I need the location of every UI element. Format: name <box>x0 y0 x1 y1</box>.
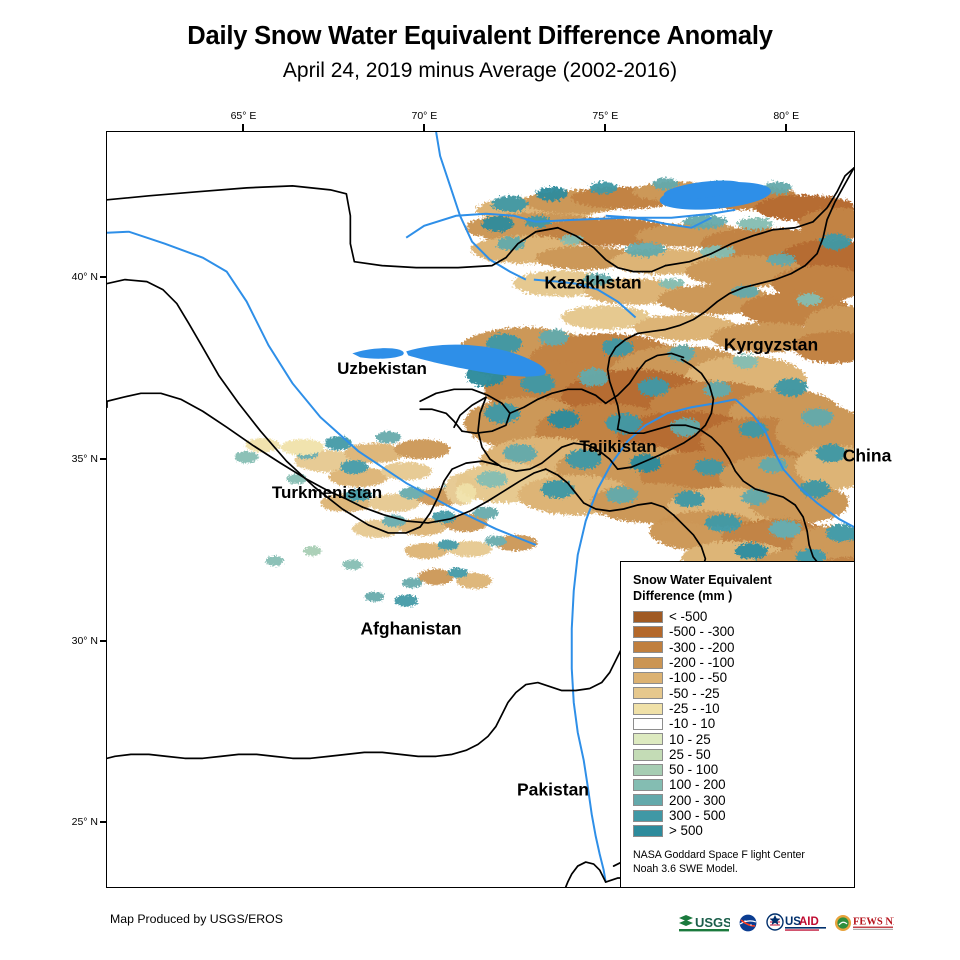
page-subtitle: April 24, 2019 minus Average (2002-2016) <box>0 59 960 82</box>
legend-label: -300 - -200 <box>669 641 735 654</box>
lat-tick-mark-3 <box>100 821 107 823</box>
legend-swatch <box>633 794 663 806</box>
legend-row: -100 - -50 <box>633 670 844 685</box>
map-legend[interactable]: Snow Water Equivalent Difference (mm ) <… <box>620 561 855 888</box>
legend-source-line1: NASA Goddard Space F light Center <box>633 848 844 863</box>
legend-label: 200 - 300 <box>669 794 726 807</box>
lat-tick-label-2: 30° N <box>62 635 98 647</box>
legend-row: -300 - -200 <box>633 640 844 655</box>
legend-row: 200 - 300 <box>633 793 844 808</box>
lon-tick-mark-0 <box>242 124 244 131</box>
lat-tick-label-3: 25° N <box>62 816 98 828</box>
legend-row: -25 - -10 <box>633 701 844 716</box>
legend-row: 100 - 200 <box>633 777 844 792</box>
agency-logo-strip: USGS US AID FEWS NET <box>678 908 858 938</box>
lon-tick-mark-3 <box>785 124 787 131</box>
legend-swatch <box>633 687 663 699</box>
legend-label: < -500 <box>669 610 707 623</box>
legend-row: > 500 <box>633 823 844 838</box>
lon-tick-label-1: 70° E <box>412 110 438 122</box>
legend-swatch <box>633 733 663 745</box>
legend-label: 50 - 100 <box>669 763 718 776</box>
svg-text:FEWS NET: FEWS NET <box>853 917 894 928</box>
legend-row: -200 - -100 <box>633 655 844 670</box>
legend-row: 300 - 500 <box>633 808 844 823</box>
legend-swatch <box>633 749 663 761</box>
legend-swatch <box>633 641 663 653</box>
nasa-logo <box>736 913 760 934</box>
lon-tick-label-3: 80° E <box>773 110 799 122</box>
usaid-logo: US AID <box>766 913 828 934</box>
legend-swatch <box>633 779 663 791</box>
legend-swatch <box>633 810 663 822</box>
map-credit: Map Produced by USGS/EROS <box>110 912 283 926</box>
legend-label: 300 - 500 <box>669 809 726 822</box>
legend-label: -200 - -100 <box>669 656 735 669</box>
lat-tick-mark-2 <box>100 640 107 642</box>
legend-swatch <box>633 626 663 638</box>
page-title: Daily Snow Water Equivalent Difference A… <box>0 22 960 50</box>
lon-tick-label-0: 65° E <box>231 110 257 122</box>
svg-text:AID: AID <box>799 916 819 928</box>
legend-class-list: < -500-500 - -300-300 - -200-200 - -100-… <box>633 609 844 838</box>
legend-row: < -500 <box>633 609 844 624</box>
legend-row: -500 - -300 <box>633 625 844 640</box>
legend-label: -50 - -25 <box>669 687 720 700</box>
legend-row: 50 - 100 <box>633 762 844 777</box>
legend-swatch <box>633 764 663 776</box>
lon-tick-label-2: 75° E <box>592 110 618 122</box>
lat-tick-mark-1 <box>100 458 107 460</box>
legend-title-line2: Difference (mm ) <box>633 588 844 604</box>
legend-swatch <box>633 825 663 837</box>
legend-swatch <box>633 703 663 715</box>
fewsnet-logo: FEWS NET <box>834 913 894 934</box>
legend-label: 25 - 50 <box>669 748 711 761</box>
legend-label: 100 - 200 <box>669 778 726 791</box>
legend-source-note: NASA Goddard Space F light Center Noah 3… <box>633 846 844 877</box>
legend-label: 10 - 25 <box>669 733 711 746</box>
legend-swatch <box>633 672 663 684</box>
svg-text:USGS: USGS <box>695 915 730 930</box>
lat-tick-mark-0 <box>100 276 107 278</box>
legend-label: -500 - -300 <box>669 625 735 638</box>
usgs-logo: USGS <box>678 913 730 934</box>
lat-tick-label-0: 40° N <box>62 271 98 283</box>
lon-tick-mark-1 <box>423 124 425 131</box>
legend-swatch <box>633 718 663 730</box>
legend-row: -50 - -25 <box>633 686 844 701</box>
legend-label: -10 - 10 <box>669 717 715 730</box>
legend-row: 10 - 25 <box>633 732 844 747</box>
legend-source-line2: Noah 3.6 SWE Model. <box>633 862 844 877</box>
legend-label: > 500 <box>669 824 703 837</box>
legend-row: -10 - 10 <box>633 716 844 731</box>
lat-tick-label-1: 35° N <box>62 453 98 465</box>
legend-label: -100 - -50 <box>669 671 727 684</box>
legend-title: Snow Water Equivalent Difference (mm ) <box>633 572 844 604</box>
legend-swatch <box>633 657 663 669</box>
legend-row: 25 - 50 <box>633 747 844 762</box>
title-block: Daily Snow Water Equivalent Difference A… <box>0 22 960 82</box>
legend-swatch <box>633 611 663 623</box>
legend-label: -25 - -10 <box>669 702 720 715</box>
legend-title-line1: Snow Water Equivalent <box>633 572 844 588</box>
lon-tick-mark-2 <box>604 124 606 131</box>
